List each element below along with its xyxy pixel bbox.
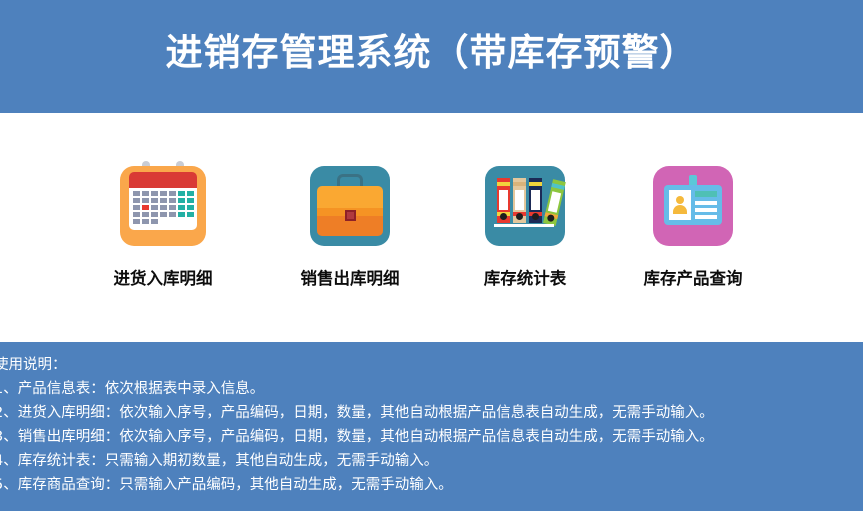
binder-shelf [494,224,554,227]
module-label: 库存产品查询 [608,265,778,289]
instructions-list: 使用说明： 1、产品信息表：依次根据表中录入信息。 2、进货入库明细：依次输入序… [0,353,863,497]
module-tile-product-query[interactable]: 库存产品查询 [608,158,778,289]
module-label: 进货入库明细 [78,265,248,289]
briefcase-icon[interactable] [307,158,393,246]
calendar-grid [133,191,193,224]
binders-icon[interactable] [482,158,568,246]
id-card-text-line [695,215,717,219]
instruction-line: 5、库存商品查询：只需输入产品编码，其他自动生成，无需手动输入。 [0,473,863,497]
module-icon-row: 进货入库明细 销售出库明细 [0,113,863,342]
binder-tan [513,178,526,223]
instruction-line: 2、进货入库明细：依次输入序号，产品编码，日期，数量，其他自动根据产品信息表自动… [0,401,863,425]
calendar-icon[interactable] [120,158,206,246]
id-card-icon[interactable] [650,158,736,246]
binder-navy [529,178,542,223]
id-card-text-line [695,208,717,212]
module-tile-inventory-stats[interactable]: 库存统计表 [440,158,610,289]
module-label: 销售出库明细 [265,265,435,289]
briefcase-clasp-inner [347,212,354,219]
instruction-line: 4、库存统计表：只需输入期初数量，其他自动生成，无需手动输入。 [0,449,863,473]
id-card-title-bar [695,191,717,197]
calendar-header-bar [129,172,197,188]
module-label: 库存统计表 [440,265,610,289]
page-title: 进销存管理系统（带库存预警） [0,27,863,79]
instructions-panel: 使用说明： 1、产品信息表：依次根据表中录入信息。 2、进货入库明细：依次输入序… [0,342,863,511]
instruction-line: 1、产品信息表：依次根据表中录入信息。 [0,377,863,401]
instructions-heading: 使用说明： [0,353,863,377]
module-tile-sales-outbound[interactable]: 销售出库明细 [265,158,435,289]
avatar-body [673,205,687,214]
avatar-head [676,196,684,204]
slide-canvas: 进销存管理系统（带库存预警） [0,0,863,511]
header-banner: 进销存管理系统（带库存预警） [0,0,863,113]
id-card-text-line [695,201,717,205]
module-tile-purchase-inbound[interactable]: 进货入库明细 [78,158,248,289]
binder-red [497,178,510,223]
instruction-line: 3、销售出库明细：依次输入序号，产品编码，日期，数量，其他自动根据产品信息表自动… [0,425,863,449]
